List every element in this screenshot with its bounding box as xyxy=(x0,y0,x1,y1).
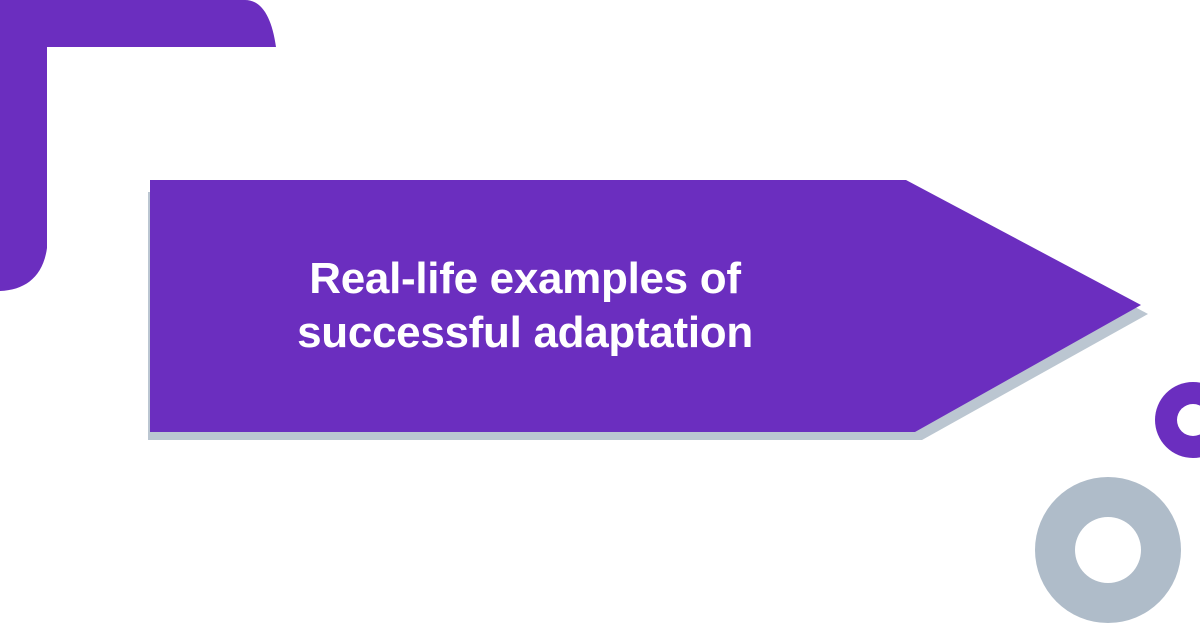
headline-text: Real-life examples of successful adaptat… xyxy=(245,252,805,359)
purple-donut-icon xyxy=(1155,382,1200,458)
poster-canvas: Real-life examples of successful adaptat… xyxy=(0,0,1200,630)
gray-donut-icon xyxy=(1035,477,1181,623)
banner-text-block: Real-life examples of successful adaptat… xyxy=(150,180,910,432)
